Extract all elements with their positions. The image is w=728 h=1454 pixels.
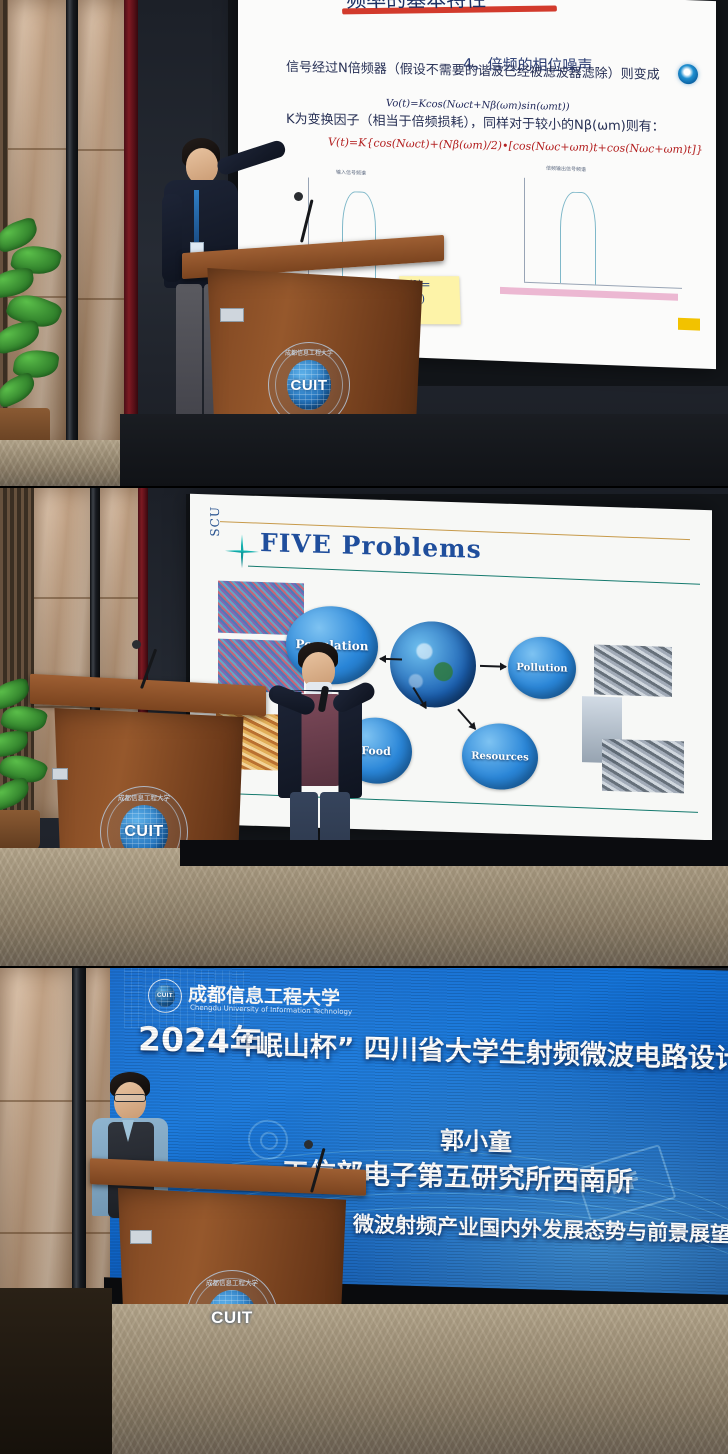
microphone-head-3 (304, 1140, 313, 1149)
arrow-to-resources (457, 709, 476, 730)
emblem-cn-text: 成都信息工程大学 (269, 348, 349, 357)
satellite-icon-inner (260, 1132, 278, 1151)
slide-body-line-2: K为变换因子（相当于倍频损耗），同样对于较小的Nβ(ωm)则有： (286, 108, 665, 135)
slide-body-line-1: 信号经过N倍频器（假设不需要的谐波已经被滤波器滤除）则变成 (286, 56, 660, 83)
chart-left-title: 输入信号频谱 (336, 169, 366, 177)
microphone-head-1 (294, 192, 303, 201)
microphone-head-2 (132, 640, 141, 649)
slide-formula-2: V(t)=K{cos(Nωct)+(Nβ(ωm)/2)•[cos(Nωc+ωm)… (328, 136, 703, 157)
chart-right-title: 倍频输出信号频谱 (546, 165, 586, 174)
marble-pillar-right (78, 0, 124, 452)
lanyard (194, 190, 199, 244)
carpet-2 (0, 848, 728, 968)
panel-2-five-problems: SCU FIVE Problems Population Pollution F… (0, 488, 728, 968)
chart-output-spectrum: 倍频输出信号频谱 (498, 169, 698, 317)
bubble-pollution: Pollution (508, 636, 576, 700)
slide-green-rule (248, 566, 700, 585)
bubble-resources: Resources (462, 722, 538, 790)
stage-base-2 (180, 840, 728, 866)
potted-plant (0, 212, 84, 462)
emblem-cn-text-3: 成都信息工程大学 (187, 1277, 277, 1287)
slide-heading: 频率的基本特性 (345, 0, 486, 13)
panel-1-lecture-phase-noise: 频率的基本特性 4。倍频的相位噪声 信号经过N倍频器（假设不需要的谐波已经被滤波… (0, 0, 728, 488)
emblem-cn-text-2: 成都信息工程大学 (101, 792, 187, 802)
slide-corner-logo (678, 64, 698, 85)
banner-competition-title: “岷山杯” 四川省大学生射频微波电路设计竞赛 (238, 1023, 728, 1078)
red-curtain (124, 0, 138, 442)
left-floor-shadow (0, 1288, 112, 1454)
slide-title-five-problems: FIVE Problems (260, 528, 482, 564)
thumbnail-resources (602, 739, 684, 794)
stage-base-1 (120, 414, 728, 488)
thumbnail-pollution (594, 644, 672, 696)
arrow-to-pollution (480, 665, 506, 668)
earth-globe (390, 620, 476, 709)
banner-university-emblem: CUIT (148, 978, 182, 1013)
slide-page-tag (678, 318, 700, 331)
panel-3-competition-banner: RF CUIT 成都信息工程大学 Chengdu University of I… (0, 968, 728, 1454)
banner-speaker-name: 郭小童 (440, 1121, 512, 1158)
emblem-cuit-text-3: CUIT (211, 1308, 253, 1328)
emblem-cuit-text: CUIT (291, 377, 328, 394)
emblem-cuit-text-2: CUIT (124, 823, 163, 841)
photo-collage: 频率的基本特性 4。倍频的相位噪声 信号经过N倍频器（假设不需要的谐波已经被滤波… (0, 0, 728, 1454)
glasses-icon (114, 1094, 146, 1102)
